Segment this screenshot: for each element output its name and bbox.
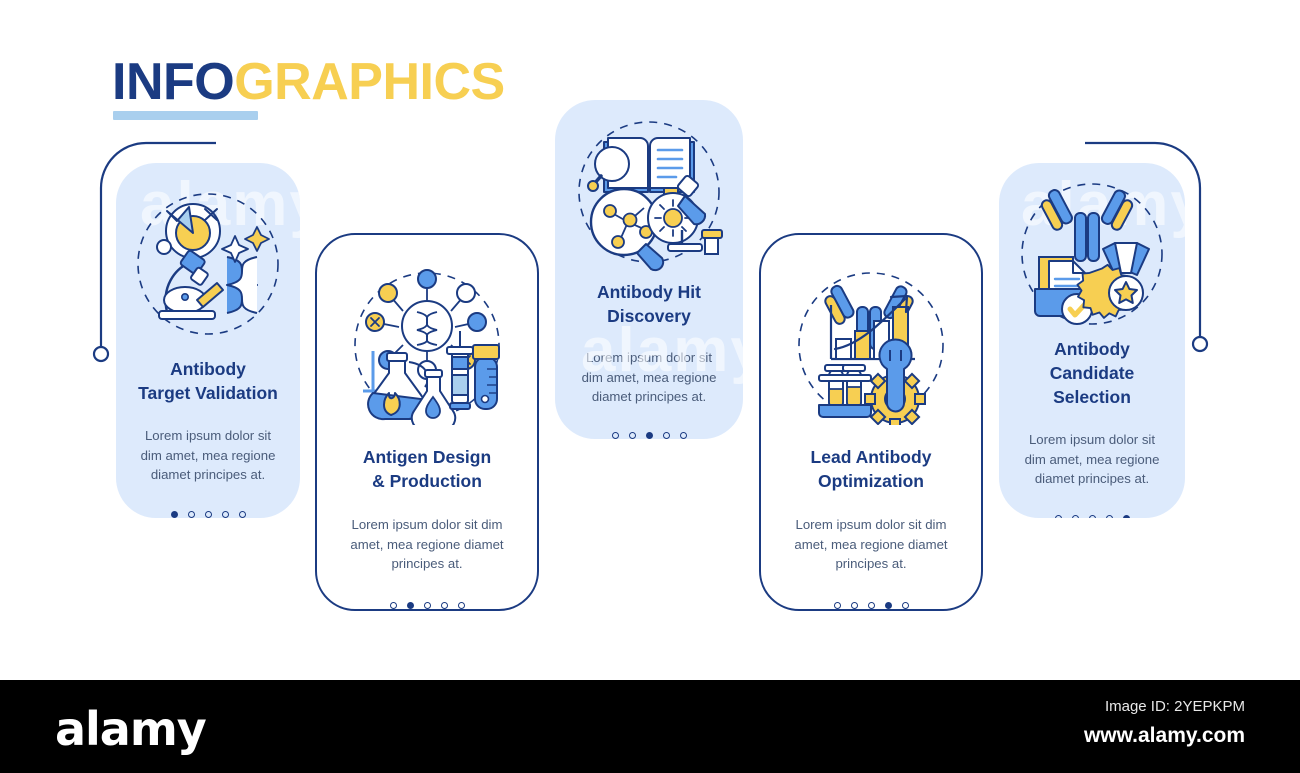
icon-group-hit-discovery [555, 100, 743, 274]
card-title-line-1: Antibody [170, 359, 246, 379]
card-title-line-2: & Production [372, 471, 482, 491]
pagination-dot[interactable] [205, 511, 212, 518]
title-part-graphics: GRAPHICS [234, 53, 504, 111]
pagination-dot[interactable] [629, 432, 636, 439]
icon-group-antigen-design [317, 235, 537, 435]
pagination-dot[interactable] [885, 602, 892, 609]
pagination-dot[interactable] [1072, 515, 1079, 518]
icon-group-target-validation [116, 163, 300, 351]
card-antibody-hit-discovery[interactable]: alamy [555, 100, 743, 439]
image-id-label: Image ID: 2YEPKPM [1105, 698, 1245, 715]
pagination-dot[interactable] [851, 602, 858, 609]
card-title-line-2: Selection [1053, 387, 1131, 407]
pagination-dot[interactable] [1055, 515, 1062, 518]
pagination-dot[interactable] [646, 432, 653, 439]
card-description-lead-antibody-optimization: Lorem ipsum dolor sit dim amet, mea regi… [761, 515, 981, 574]
card-description-antigen-design-production: Lorem ipsum dolor sit dim amet, mea regi… [317, 515, 537, 574]
pagination-dot[interactable] [680, 432, 687, 439]
infographic-canvas: INFOGRAPHICS alamy [0, 0, 1300, 773]
pagination-dots-card-4[interactable] [761, 602, 981, 609]
pagination-dot[interactable] [424, 602, 431, 609]
pagination-dot[interactable] [663, 432, 670, 439]
alamy-logo: alamy [55, 706, 206, 752]
card-title-line-2: Optimization [818, 471, 924, 491]
card-antigen-design-production[interactable]: Antigen Design & Production Lorem ipsum … [315, 233, 539, 611]
card-lead-antibody-optimization[interactable]: Lead Antibody Optimization Lorem ipsum d… [759, 233, 983, 611]
pagination-dot[interactable] [1089, 515, 1096, 518]
card-antibody-target-validation[interactable]: alamy [116, 163, 300, 518]
card-title-antibody-hit-discovery: Antibody Hit Discovery [555, 280, 743, 328]
pagination-dot[interactable] [222, 511, 229, 518]
pagination-dot[interactable] [390, 602, 397, 609]
card-title-line-2: Discovery [607, 306, 691, 326]
card-title-line-1: Lead Antibody [811, 447, 932, 467]
pagination-dot[interactable] [902, 602, 909, 609]
pagination-dot[interactable] [868, 602, 875, 609]
icon-group-lead-optimization [761, 235, 981, 435]
card-title-line-2: Target Validation [138, 383, 278, 403]
pagination-dot[interactable] [834, 602, 841, 609]
pagination-dot[interactable] [612, 432, 619, 439]
card-title-antigen-design-production: Antigen Design & Production [317, 445, 537, 493]
title-part-info: INFO [112, 53, 234, 111]
card-title-line-1: Antibody Candidate [1050, 339, 1135, 383]
page-title: INFOGRAPHICS [112, 56, 505, 108]
title-underline [113, 111, 258, 120]
pagination-dot[interactable] [407, 602, 414, 609]
pagination-dots-card-5[interactable] [999, 515, 1185, 518]
alamy-url: www.alamy.com [1084, 724, 1245, 748]
pagination-dot[interactable] [441, 602, 448, 609]
pagination-dots-card-1[interactable] [116, 511, 300, 518]
card-antibody-candidate-selection[interactable]: alamy [999, 163, 1185, 518]
card-title-antibody-candidate-selection: Antibody Candidate Selection [999, 337, 1185, 409]
icon-group-candidate-selection [999, 163, 1185, 331]
pagination-dots-card-2[interactable] [317, 602, 537, 609]
card-description-antibody-candidate-selection: Lorem ipsum dolor sit dim amet, mea regi… [999, 430, 1185, 489]
pagination-dots-card-3[interactable] [555, 432, 743, 439]
pagination-dot[interactable] [188, 511, 195, 518]
pagination-dot[interactable] [239, 511, 246, 518]
card-title-antibody-target-validation: Antibody Target Validation [116, 357, 300, 405]
card-title-lead-antibody-optimization: Lead Antibody Optimization [761, 445, 981, 493]
pagination-dot[interactable] [1106, 515, 1113, 518]
pagination-dot[interactable] [1123, 515, 1130, 518]
pagination-dot[interactable] [171, 511, 178, 518]
card-title-line-1: Antibody Hit [597, 282, 701, 302]
card-description-antibody-hit-discovery: Lorem ipsum dolor sit dim amet, mea regi… [555, 348, 743, 407]
watermark-footer-bar: alamy Image ID: 2YEPKPM www.alamy.com [0, 680, 1300, 773]
card-description-antibody-target-validation: Lorem ipsum dolor sit dim amet, mea regi… [116, 426, 300, 485]
pagination-dot[interactable] [458, 602, 465, 609]
card-title-line-1: Antigen Design [363, 447, 491, 467]
